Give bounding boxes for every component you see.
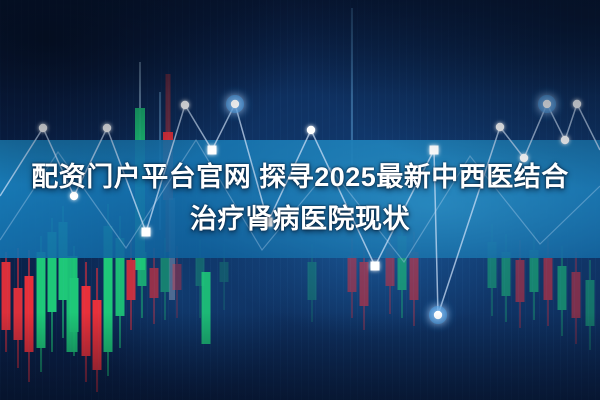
banner-image: 配资门户平台官网 探寻2025最新中西医结合治疗肾病医院现状 <box>0 0 600 400</box>
page-title: 配资门户平台官网 探寻2025最新中西医结合治疗肾病医院现状 <box>0 156 600 240</box>
